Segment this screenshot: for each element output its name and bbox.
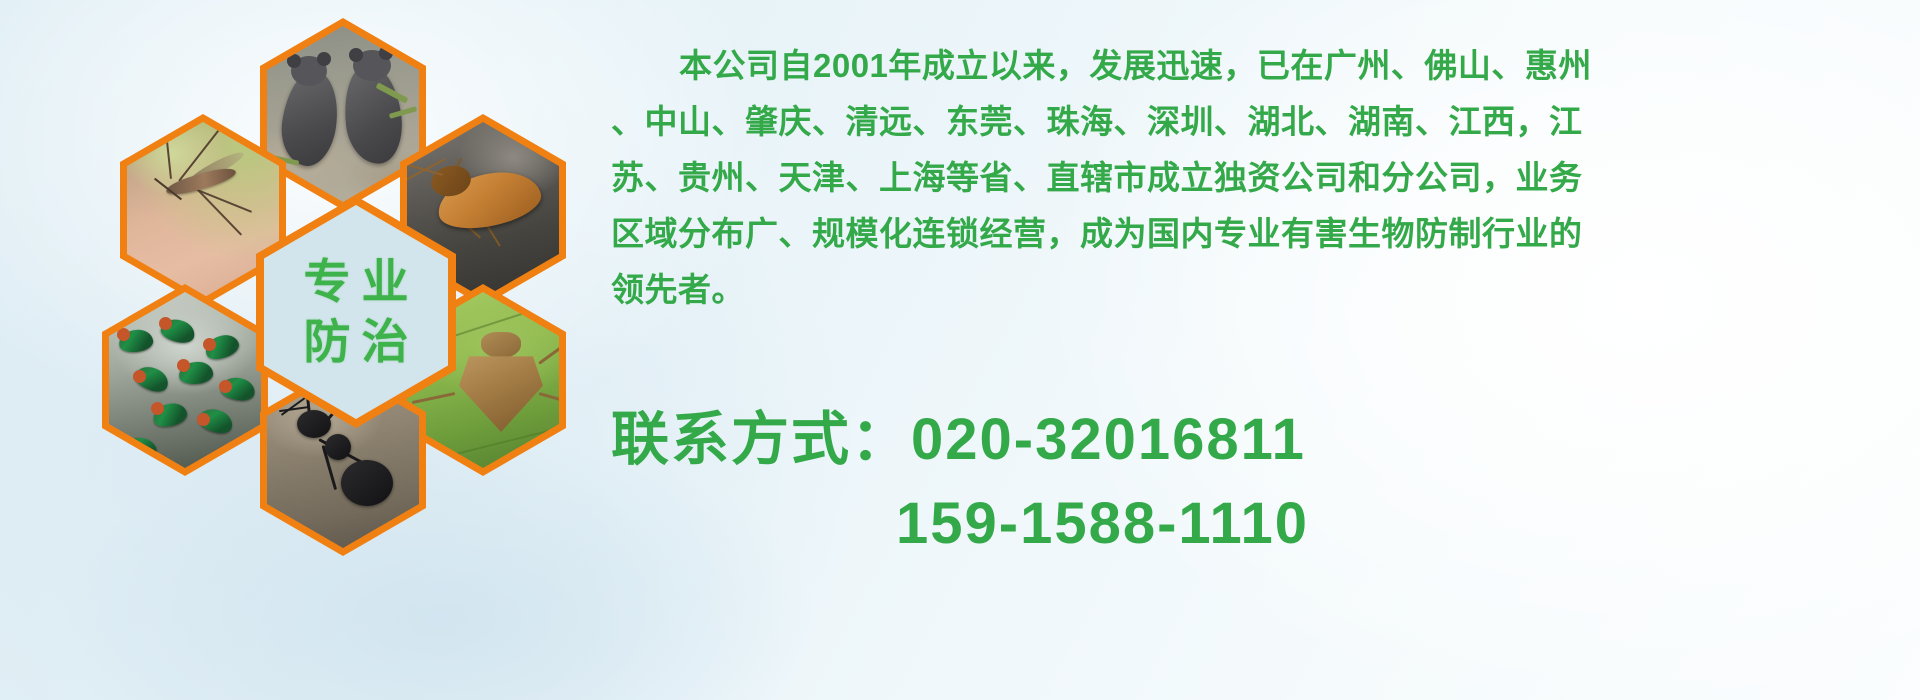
contact-block: 联系方式：020-32016811 159-1588-1110 — [611, 398, 1911, 566]
hexagon-photo-collage: 专业 防治 — [84, 18, 584, 563]
rats-image — [267, 26, 419, 202]
hex-flies-photo — [102, 284, 268, 476]
slogan-line-2: 防治 — [293, 312, 420, 372]
intro-line-1: 本公司自2001年成立以来，发展迅速，已在广州、佛山、惠州 — [611, 38, 1907, 94]
slogan-line-1: 专业 — [293, 252, 420, 312]
intro-line-5: 领先者。 — [611, 262, 1907, 318]
flies-image — [109, 292, 261, 468]
intro-line-3: 苏、贵州、天津、上海等省、直辖市成立独资公司和分公司，业务 — [611, 150, 1907, 206]
contact-phone-mobile[interactable]: 159-1588-1110 — [611, 482, 1911, 566]
intro-line-4: 区域分布广、规模化连锁经营，成为国内专业有害生物防制行业的 — [611, 206, 1907, 262]
promo-banner: 专业 防治 本公司自2001年成立以来，发展迅速，已在广州、佛山、惠州 、中山、… — [0, 0, 1920, 700]
intro-line-2: 、中山、肇庆、清远、东莞、珠海、深圳、湖北、湖南、江西，江 — [611, 94, 1907, 150]
company-intro-paragraph: 本公司自2001年成立以来，发展迅速，已在广州、佛山、惠州 、中山、肇庆、清远、… — [611, 38, 1907, 318]
contact-phone-primary[interactable]: 联系方式：020-32016811 — [611, 398, 1911, 482]
